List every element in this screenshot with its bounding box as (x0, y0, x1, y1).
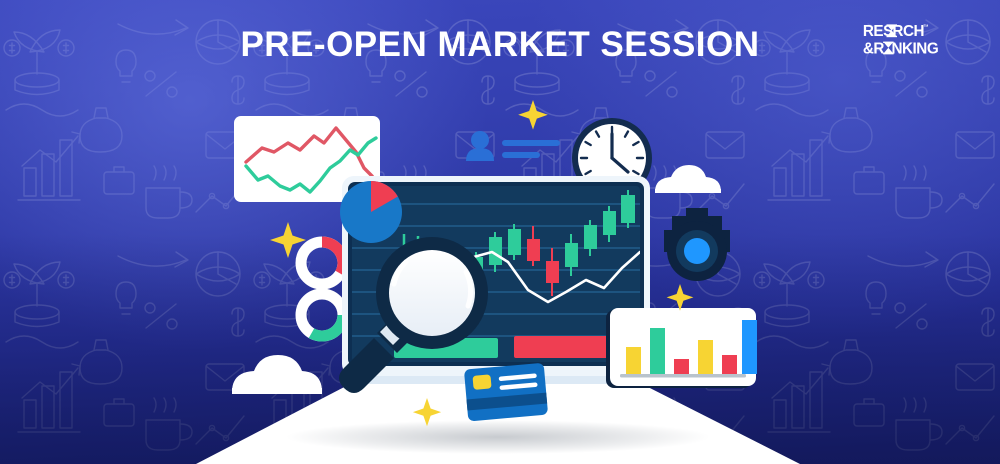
bar-chart-card (606, 308, 757, 388)
floor-shadow (286, 420, 710, 454)
credit-card (464, 363, 548, 422)
user-profile-placeholder (466, 131, 560, 161)
stock-market-analysis-illustration (0, 0, 1000, 464)
sparkle-star-2 (518, 100, 548, 130)
cloud-left (232, 355, 322, 394)
pie-chart-widget (340, 181, 402, 243)
donut-chart-red (301, 242, 343, 284)
cloud-right (655, 165, 721, 193)
target-ring-icon (664, 208, 730, 281)
donut-chart-green (301, 294, 343, 336)
sparkle-star-3 (667, 284, 694, 311)
bar-chart-axis (620, 374, 746, 378)
banner-root: PRE-OPEN MARKET SESSION RES RCH ™ &R NKI… (0, 0, 1000, 464)
